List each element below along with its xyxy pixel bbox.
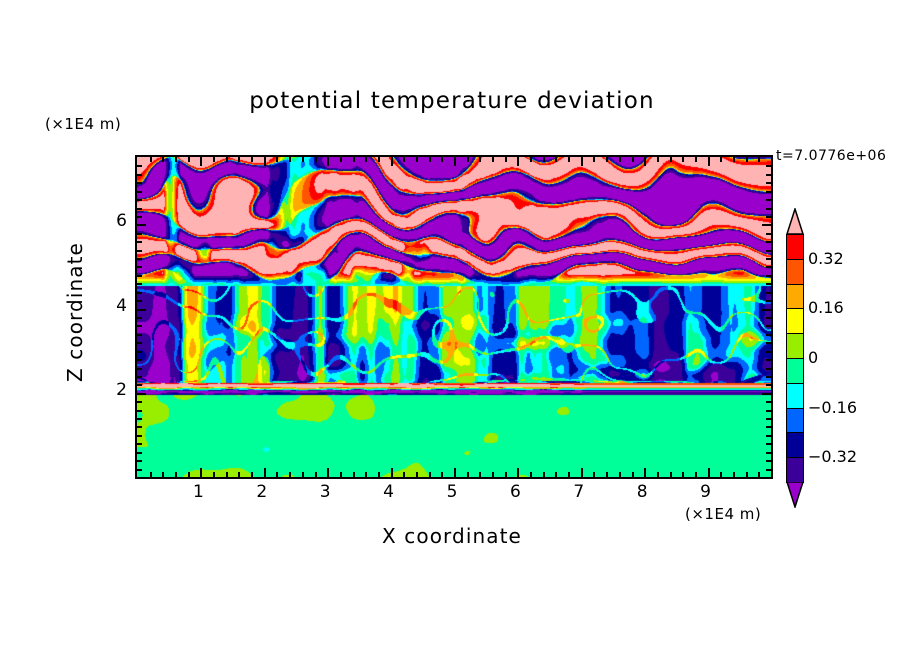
colorbar-tick-label: 0 bbox=[808, 348, 818, 367]
x-axis-title: X coordinate bbox=[135, 524, 769, 548]
tick-mark bbox=[137, 233, 142, 235]
tick-mark bbox=[632, 157, 634, 162]
y-tick-label: 2 bbox=[97, 380, 127, 400]
tick-mark bbox=[315, 472, 317, 477]
tick-mark bbox=[378, 472, 380, 477]
tick-mark bbox=[593, 157, 595, 162]
contour-field bbox=[137, 157, 771, 477]
tick-mark bbox=[505, 472, 507, 477]
tick-mark bbox=[302, 472, 304, 477]
tick-mark bbox=[606, 157, 608, 162]
tick-mark bbox=[315, 157, 317, 162]
tick-mark bbox=[137, 250, 142, 252]
tick-mark bbox=[137, 342, 142, 344]
x-tick-label: 3 bbox=[310, 482, 340, 502]
tick-mark bbox=[251, 472, 253, 477]
tick-mark bbox=[644, 157, 646, 166]
tick-mark bbox=[766, 401, 771, 403]
tick-mark bbox=[264, 157, 266, 166]
tick-mark bbox=[746, 472, 748, 477]
tick-mark bbox=[137, 368, 142, 370]
tick-mark bbox=[353, 472, 355, 477]
y-tick-label: 4 bbox=[97, 296, 127, 316]
tick-mark bbox=[276, 157, 278, 162]
colorbar-band[interactable] bbox=[786, 234, 804, 260]
tick-mark bbox=[720, 472, 722, 477]
tick-mark bbox=[213, 472, 215, 477]
colorbar[interactable]: 0.320.160−0.16−0.32 bbox=[786, 208, 804, 508]
colorbar-tick-label: 0.16 bbox=[808, 298, 844, 317]
tick-mark bbox=[137, 182, 142, 184]
tick-mark bbox=[391, 468, 393, 477]
x-tick-label: 9 bbox=[691, 482, 721, 502]
tick-mark bbox=[517, 468, 519, 477]
tick-mark bbox=[137, 283, 142, 285]
tick-mark bbox=[733, 472, 735, 477]
tick-mark bbox=[766, 418, 771, 420]
tick-mark bbox=[479, 157, 481, 162]
tick-mark bbox=[137, 325, 142, 327]
tick-mark bbox=[454, 468, 456, 477]
tick-mark bbox=[416, 157, 418, 162]
tick-mark bbox=[708, 157, 710, 166]
tick-mark bbox=[289, 157, 291, 162]
tick-mark bbox=[137, 275, 142, 277]
tick-mark bbox=[766, 191, 771, 193]
tick-mark bbox=[137, 208, 142, 210]
tick-mark bbox=[670, 472, 672, 477]
tick-mark bbox=[137, 317, 142, 319]
x-tick-label: 5 bbox=[437, 482, 467, 502]
tick-mark bbox=[175, 157, 177, 162]
tick-mark bbox=[137, 174, 142, 176]
tick-mark bbox=[766, 317, 771, 319]
tick-mark bbox=[137, 452, 142, 454]
tick-mark bbox=[467, 472, 469, 477]
tick-mark bbox=[766, 165, 771, 167]
tick-mark bbox=[429, 157, 431, 162]
tick-mark bbox=[619, 157, 621, 162]
tick-mark bbox=[543, 157, 545, 162]
tick-mark bbox=[766, 351, 771, 353]
tick-mark bbox=[200, 468, 202, 477]
tick-mark bbox=[657, 157, 659, 162]
tick-mark bbox=[766, 376, 771, 378]
tick-mark bbox=[766, 182, 771, 184]
tick-mark bbox=[403, 157, 405, 162]
y-tick-label: 6 bbox=[97, 211, 127, 231]
tick-mark bbox=[766, 334, 771, 336]
tick-mark bbox=[492, 157, 494, 162]
tick-mark bbox=[137, 241, 142, 243]
tick-mark bbox=[581, 157, 583, 166]
tick-mark bbox=[137, 469, 142, 471]
tick-mark bbox=[441, 472, 443, 477]
tick-mark bbox=[137, 165, 142, 167]
tick-mark bbox=[766, 460, 771, 462]
colorbar-over-arrow bbox=[786, 208, 804, 234]
tick-mark bbox=[137, 300, 142, 302]
colorbar-band[interactable] bbox=[786, 284, 804, 310]
tick-mark bbox=[644, 468, 646, 477]
tick-mark bbox=[479, 472, 481, 477]
tick-mark bbox=[137, 224, 146, 226]
x-tick-label: 1 bbox=[183, 482, 213, 502]
colorbar-band[interactable] bbox=[786, 358, 804, 384]
colorbar-band[interactable] bbox=[786, 383, 804, 409]
tick-mark bbox=[137, 460, 142, 462]
tick-mark bbox=[416, 472, 418, 477]
tick-mark bbox=[391, 157, 393, 166]
tick-mark bbox=[733, 157, 735, 162]
tick-mark bbox=[657, 472, 659, 477]
tick-mark bbox=[137, 410, 142, 412]
x-tick-label: 6 bbox=[500, 482, 530, 502]
tick-mark bbox=[137, 418, 142, 420]
tick-mark bbox=[137, 401, 142, 403]
tick-mark bbox=[766, 426, 771, 428]
tick-mark bbox=[353, 157, 355, 162]
x-tick-label: 8 bbox=[627, 482, 657, 502]
colorbar-band[interactable] bbox=[786, 432, 804, 458]
colorbar-tick-label: 0.32 bbox=[808, 249, 844, 268]
tick-mark bbox=[238, 472, 240, 477]
tick-mark bbox=[162, 472, 164, 477]
tick-mark bbox=[365, 472, 367, 477]
tick-mark bbox=[403, 472, 405, 477]
tick-mark bbox=[758, 472, 760, 477]
tick-mark bbox=[766, 241, 771, 243]
tick-mark bbox=[766, 410, 771, 412]
x-tick-label: 4 bbox=[374, 482, 404, 502]
tick-mark bbox=[758, 157, 760, 162]
tick-mark bbox=[340, 157, 342, 162]
tick-mark bbox=[137, 426, 142, 428]
x-tick-label: 7 bbox=[564, 482, 594, 502]
tick-mark bbox=[766, 342, 771, 344]
tick-mark bbox=[137, 266, 142, 268]
tick-mark bbox=[327, 468, 329, 477]
tick-mark bbox=[289, 472, 291, 477]
tick-mark bbox=[766, 208, 771, 210]
colorbar-band[interactable] bbox=[786, 308, 804, 334]
tick-mark bbox=[467, 157, 469, 162]
tick-mark bbox=[137, 216, 142, 218]
tick-mark bbox=[708, 468, 710, 477]
colorbar-tick-label: −0.16 bbox=[808, 398, 857, 417]
colorbar-band[interactable] bbox=[786, 408, 804, 434]
tick-mark bbox=[766, 199, 771, 201]
tick-mark bbox=[555, 472, 557, 477]
tick-mark bbox=[276, 472, 278, 477]
tick-mark bbox=[251, 157, 253, 162]
colorbar-band[interactable] bbox=[786, 333, 804, 359]
tick-mark bbox=[568, 472, 570, 477]
tick-mark bbox=[766, 258, 771, 260]
tick-mark bbox=[766, 266, 771, 268]
tick-mark bbox=[200, 157, 202, 166]
tick-mark bbox=[137, 443, 142, 445]
tick-mark bbox=[378, 157, 380, 162]
tick-mark bbox=[150, 472, 152, 477]
x-axis-unit-label: (×1E4 m) bbox=[685, 505, 761, 523]
tick-mark bbox=[226, 157, 228, 162]
tick-mark bbox=[137, 199, 142, 201]
tick-mark bbox=[766, 443, 771, 445]
colorbar-band[interactable] bbox=[786, 457, 804, 483]
tick-mark bbox=[606, 472, 608, 477]
tick-mark bbox=[766, 292, 771, 294]
tick-mark bbox=[695, 472, 697, 477]
tick-mark bbox=[593, 472, 595, 477]
tick-mark bbox=[188, 157, 190, 162]
tick-mark bbox=[137, 359, 142, 361]
tick-mark bbox=[150, 157, 152, 162]
tick-mark bbox=[137, 384, 142, 386]
tick-mark bbox=[226, 472, 228, 477]
tick-mark bbox=[766, 325, 771, 327]
tick-mark bbox=[137, 334, 142, 336]
tick-mark bbox=[766, 233, 771, 235]
tick-mark bbox=[188, 472, 190, 477]
figure-canvas: potential temperature deviation (×1E4 m)… bbox=[0, 0, 904, 654]
tick-mark bbox=[766, 384, 771, 386]
colorbar-band[interactable] bbox=[786, 259, 804, 285]
tick-mark bbox=[762, 309, 771, 311]
colorbar-tick-label: −0.32 bbox=[808, 447, 857, 466]
tick-mark bbox=[682, 472, 684, 477]
tick-mark bbox=[555, 157, 557, 162]
tick-mark bbox=[762, 393, 771, 395]
tick-mark bbox=[137, 258, 142, 260]
tick-mark bbox=[175, 472, 177, 477]
tick-mark bbox=[766, 250, 771, 252]
tick-mark bbox=[137, 351, 142, 353]
tick-mark bbox=[581, 468, 583, 477]
tick-mark bbox=[264, 468, 266, 477]
tick-mark bbox=[327, 157, 329, 166]
contour-plot-area[interactable] bbox=[135, 155, 773, 479]
tick-mark bbox=[137, 309, 146, 311]
tick-mark bbox=[137, 393, 146, 395]
tick-mark bbox=[682, 157, 684, 162]
tick-mark bbox=[505, 157, 507, 162]
tick-mark bbox=[517, 157, 519, 166]
tick-mark bbox=[162, 157, 164, 162]
y-axis-title: Z coordinate bbox=[63, 212, 87, 412]
tick-mark bbox=[766, 275, 771, 277]
tick-mark bbox=[670, 157, 672, 162]
tick-mark bbox=[766, 300, 771, 302]
tick-mark bbox=[695, 157, 697, 162]
x-tick-label: 2 bbox=[247, 482, 277, 502]
tick-mark bbox=[766, 452, 771, 454]
tick-mark bbox=[746, 157, 748, 162]
tick-mark bbox=[766, 469, 771, 471]
tick-mark bbox=[766, 359, 771, 361]
tick-mark bbox=[340, 472, 342, 477]
colorbar-under-arrow bbox=[786, 482, 804, 508]
tick-mark bbox=[137, 191, 142, 193]
tick-mark bbox=[429, 472, 431, 477]
tick-mark bbox=[213, 157, 215, 162]
tick-mark bbox=[441, 157, 443, 162]
tick-mark bbox=[766, 283, 771, 285]
tick-mark bbox=[365, 157, 367, 162]
tick-mark bbox=[238, 157, 240, 162]
tick-mark bbox=[766, 435, 771, 437]
time-annotation: t=7.0776e+06 bbox=[776, 148, 886, 164]
tick-mark bbox=[454, 157, 456, 166]
tick-mark bbox=[543, 472, 545, 477]
tick-mark bbox=[530, 157, 532, 162]
tick-mark bbox=[492, 472, 494, 477]
tick-mark bbox=[766, 216, 771, 218]
tick-mark bbox=[568, 157, 570, 162]
tick-mark bbox=[766, 368, 771, 370]
tick-mark bbox=[137, 292, 142, 294]
tick-mark bbox=[137, 435, 142, 437]
tick-mark bbox=[766, 174, 771, 176]
tick-mark bbox=[530, 472, 532, 477]
tick-mark bbox=[632, 472, 634, 477]
tick-mark bbox=[619, 472, 621, 477]
tick-mark bbox=[137, 376, 142, 378]
tick-mark bbox=[720, 157, 722, 162]
tick-mark bbox=[762, 224, 771, 226]
y-axis-unit-label: (×1E4 m) bbox=[45, 115, 121, 133]
tick-mark bbox=[302, 157, 304, 162]
page-title: potential temperature deviation bbox=[0, 88, 904, 114]
